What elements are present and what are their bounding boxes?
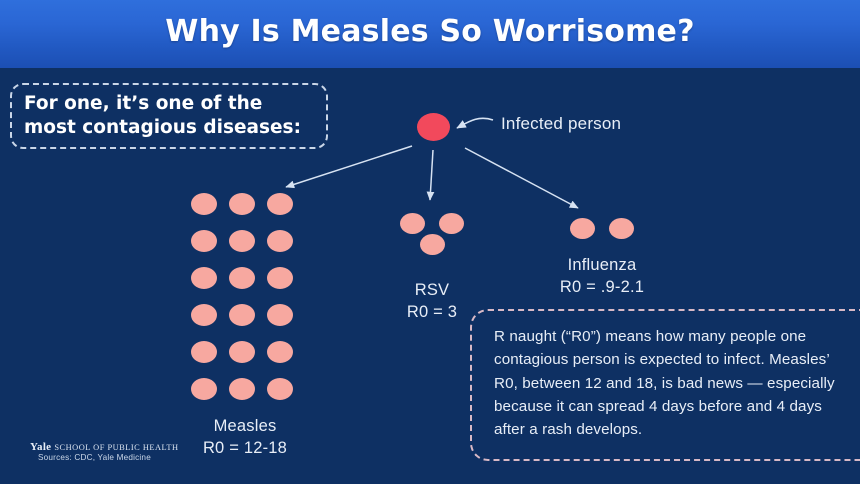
disease-r0-rsv: R0 = 3 bbox=[378, 303, 486, 322]
person-dot bbox=[267, 193, 293, 215]
disease-group-influenza: Influenza R0 = .9-2.1 bbox=[548, 218, 656, 297]
person-dot bbox=[570, 218, 595, 239]
disease-label-influenza: Influenza bbox=[548, 256, 656, 275]
dot-grid-influenza bbox=[548, 218, 656, 239]
yale-wordmark: Yale bbox=[30, 441, 51, 453]
person-dot bbox=[229, 230, 255, 252]
person-dot bbox=[191, 304, 217, 326]
disease-group-measles: Measles R0 = 12-18 bbox=[185, 193, 305, 458]
person-dot bbox=[229, 378, 255, 400]
person-dot bbox=[267, 378, 293, 400]
disease-r0-measles: R0 = 12-18 bbox=[185, 439, 305, 458]
disease-label-rsv: RSV bbox=[378, 281, 486, 300]
person-dot bbox=[191, 193, 217, 215]
person-dot bbox=[420, 234, 445, 255]
person-dot bbox=[439, 213, 464, 234]
person-dot bbox=[191, 230, 217, 252]
yale-school-name: SCHOOL OF PUBLIC HEALTH bbox=[54, 443, 178, 452]
person-dot bbox=[267, 304, 293, 326]
person-dot bbox=[267, 267, 293, 289]
person-dot bbox=[267, 230, 293, 252]
infographic-slide: Why Is Measles So Worrisome? For one, it… bbox=[0, 0, 860, 484]
person-dot bbox=[267, 341, 293, 363]
disease-group-rsv: RSV R0 = 3 bbox=[378, 213, 486, 322]
person-dot bbox=[229, 304, 255, 326]
header-bar: Why Is Measles So Worrisome? bbox=[0, 0, 860, 68]
person-dot bbox=[400, 213, 425, 234]
infected-person-label: Infected person bbox=[501, 114, 621, 134]
sources-text: Sources: CDC, Yale Medicine bbox=[38, 453, 151, 462]
person-dot bbox=[191, 341, 217, 363]
person-dot bbox=[229, 267, 255, 289]
person-dot bbox=[609, 218, 634, 239]
person-dot bbox=[191, 378, 217, 400]
intro-callout-box: For one, it’s one of the most contagious… bbox=[10, 83, 328, 149]
page-title: Why Is Measles So Worrisome? bbox=[0, 14, 860, 49]
explainer-callout-box: R naught (“R0”) means how many people on… bbox=[470, 309, 860, 461]
infected-person-dot bbox=[417, 113, 450, 141]
person-dot bbox=[229, 193, 255, 215]
intro-callout-text: For one, it’s one of the most contagious… bbox=[24, 92, 320, 140]
person-dot bbox=[229, 341, 255, 363]
dot-grid-measles bbox=[185, 193, 299, 415]
disease-label-measles: Measles bbox=[185, 417, 305, 436]
dot-grid-rsv bbox=[378, 213, 486, 255]
disease-r0-influenza: R0 = .9-2.1 bbox=[548, 278, 656, 297]
person-dot bbox=[191, 267, 217, 289]
explainer-callout-text: R naught (“R0”) means how many people on… bbox=[494, 325, 839, 441]
